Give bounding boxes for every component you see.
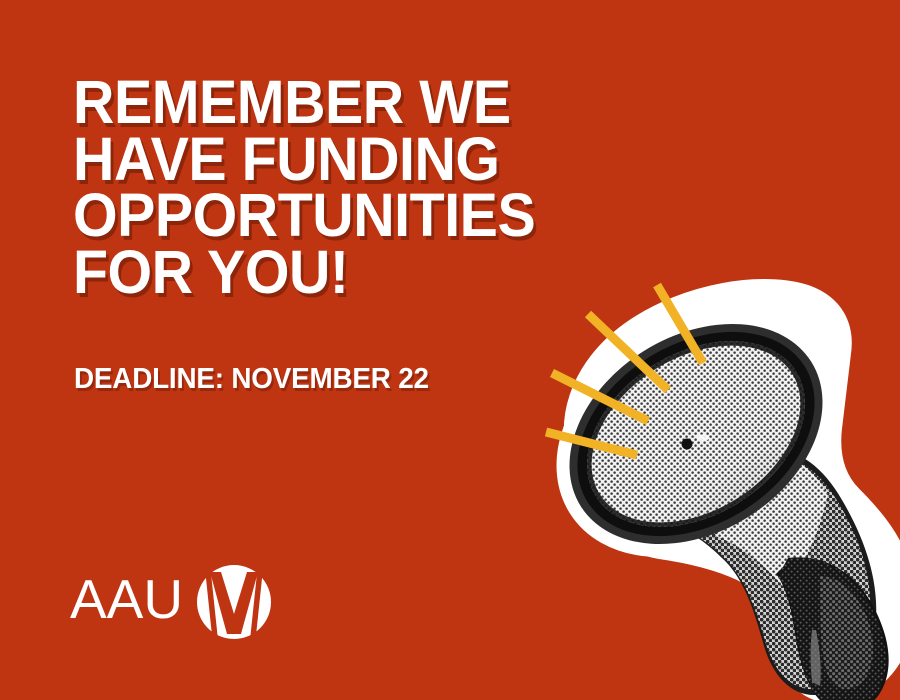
aauw-w-mark-icon [188, 556, 280, 648]
poster-canvas: REMEMBER WE HAVE FUNDING OPPORTUNITIES F… [0, 0, 900, 700]
page-title: REMEMBER WE HAVE FUNDING OPPORTUNITIES F… [73, 74, 637, 301]
deadline-text: DEADLINE: NOVEMBER 22 [74, 363, 429, 396]
aauw-logo: AAU [70, 556, 280, 648]
megaphone-illustration [520, 258, 900, 700]
logo-wordmark: AAU [70, 572, 183, 627]
megaphone-center-dot [682, 439, 693, 450]
